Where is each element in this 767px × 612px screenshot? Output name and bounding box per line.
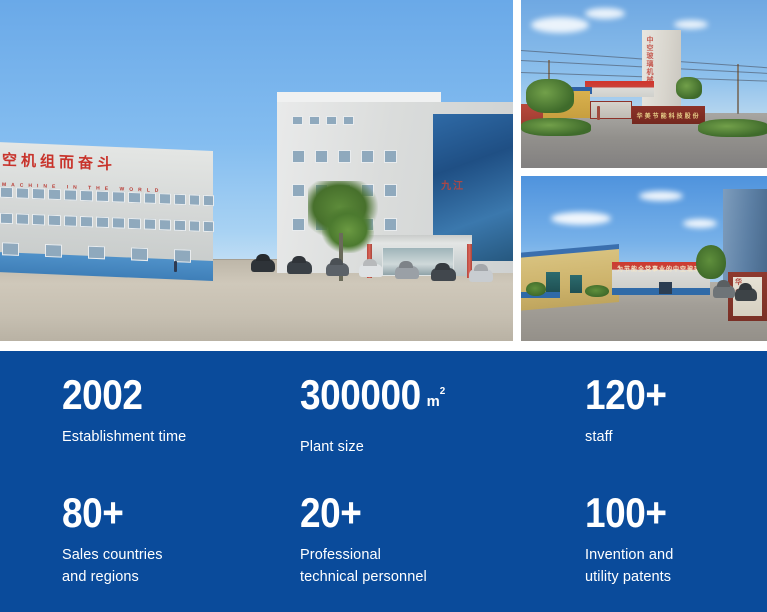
shrub xyxy=(526,282,546,296)
cloud xyxy=(683,219,717,228)
hedge xyxy=(698,119,767,137)
cloud xyxy=(639,191,683,201)
pedestrian xyxy=(597,106,600,120)
factory-gate-photo[interactable]: 中空玻璃机械 华美节能科技股份 xyxy=(521,0,767,168)
parked-car xyxy=(326,263,349,276)
stat-value: 2002 xyxy=(62,373,271,417)
chinese-slogan-text: 空机组而奋斗 xyxy=(2,153,116,172)
glass-wall-text: 九江 xyxy=(441,177,465,192)
parked-car xyxy=(713,285,735,298)
parked-car xyxy=(395,266,419,279)
window-row xyxy=(292,116,354,125)
workshop-door xyxy=(570,275,582,293)
parked-car xyxy=(469,269,493,282)
background-building-text: 为节能全党事业的中空玻璃 xyxy=(617,264,701,273)
stat-label: Invention and utility patents xyxy=(585,544,762,588)
cloud xyxy=(674,20,708,29)
workshop-yard-photo[interactable]: 为节能全党事业的中空玻璃 华美 xyxy=(521,176,767,341)
stat-number-text: 300000 xyxy=(300,371,421,418)
gate-sign-text: 华美节能科技股份 xyxy=(637,111,701,120)
shrub xyxy=(526,79,574,113)
stat-technical-personnel: 20+ Professional technical personnel xyxy=(300,491,585,588)
photo-gallery: 空机组而奋斗 MACHINE IN THE WORLD xyxy=(0,0,767,341)
stat-establishment-time: 2002 Establishment time xyxy=(62,373,300,491)
hedge xyxy=(521,118,591,136)
stat-patents: 100+ Invention and utility patents xyxy=(585,491,762,588)
office-building-photo[interactable]: 空机组而奋斗 MACHINE IN THE WORLD xyxy=(0,0,513,341)
parked-car xyxy=(735,288,757,301)
tree xyxy=(308,181,378,304)
company-stats-panel: 2002 Establishment time 300000m2 Plant s… xyxy=(0,351,767,612)
parked-car xyxy=(359,264,383,277)
stat-sales-countries: 80+ Sales countries and regions xyxy=(62,491,300,588)
stat-value: 100+ xyxy=(585,491,741,535)
shrub xyxy=(585,285,609,297)
window-row xyxy=(292,150,397,163)
stat-label: Sales countries and regions xyxy=(62,544,300,588)
stat-label: Establishment time xyxy=(62,426,300,448)
workshop-door xyxy=(546,272,560,292)
shrub xyxy=(676,77,702,99)
stat-plant-size: 300000m2 Plant size xyxy=(300,373,585,491)
stat-value: 80+ xyxy=(62,491,271,535)
stat-label: Professional technical personnel xyxy=(300,544,585,588)
stat-unit: m2 xyxy=(427,376,446,424)
tower-sign-text: 中空玻璃机械 xyxy=(646,37,656,85)
stat-value: 120+ xyxy=(585,373,741,417)
pedestrian xyxy=(174,261,177,272)
stat-value: 20+ xyxy=(300,491,551,535)
stat-staff: 120+ staff xyxy=(585,373,762,491)
parked-car xyxy=(287,261,312,274)
parked-car xyxy=(251,259,275,272)
workshop-door xyxy=(659,282,672,294)
unit-text: m xyxy=(427,393,440,410)
long-workshop xyxy=(585,81,654,98)
parked-car xyxy=(431,268,456,281)
stat-label: Plant size xyxy=(300,436,585,458)
company-profile-page: 空机组而奋斗 MACHINE IN THE WORLD xyxy=(0,0,767,612)
stat-value: 300000m2 xyxy=(300,373,551,427)
stat-label: staff xyxy=(585,426,762,448)
stats-grid: 2002 Establishment time 300000m2 Plant s… xyxy=(62,373,762,588)
tree xyxy=(696,245,726,279)
cloud xyxy=(531,17,589,33)
tree-crown xyxy=(322,207,374,253)
gate-panel xyxy=(590,101,632,119)
unit-exponent: 2 xyxy=(440,386,445,397)
